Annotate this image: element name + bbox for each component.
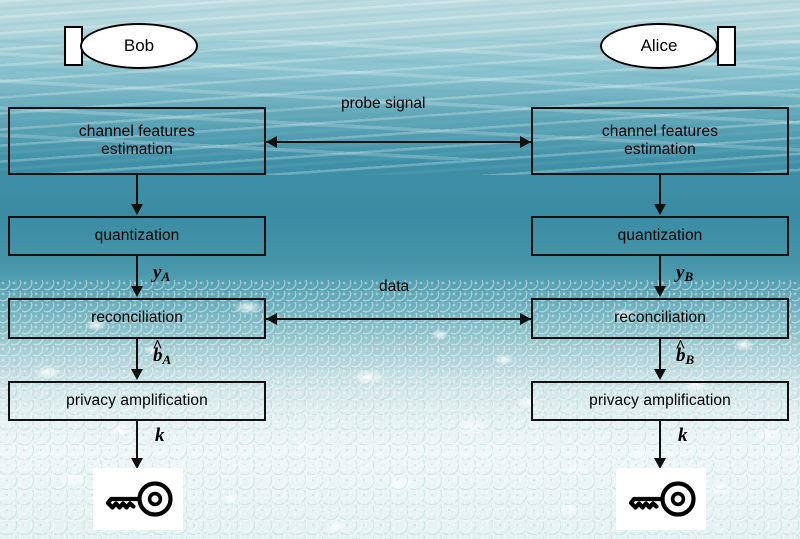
alice-key-icon-panel: [616, 468, 706, 530]
bob-symbol-y-a: yA: [153, 262, 170, 285]
alice-reconciliation-label: reconciliation: [614, 309, 706, 327]
bob-reconciliation-box[interactable]: reconciliation: [8, 298, 266, 339]
bob-symbol-k: k: [155, 425, 165, 447]
probe-signal-line: [266, 141, 531, 143]
figure-canvas: Bob Alice channel features estimation qu…: [0, 0, 800, 539]
alice-privacy-amplification-label: privacy amplification: [589, 392, 731, 410]
bob-arrow-privacy-to-key: [136, 421, 138, 459]
alice-arrow-privacy-to-key: [659, 421, 661, 459]
alice-symbol-b-hat-b: ^bB: [676, 345, 694, 368]
bob-symbol-b-hat-a-sub: A: [163, 352, 172, 367]
probe-signal-arrowhead-left: [266, 136, 277, 148]
alice-symbol-b-hat-b-sub: B: [686, 352, 695, 367]
bob-channel-estimation-box[interactable]: channel features estimation: [8, 107, 266, 175]
alice-arrow-quantization-to-reconciliation: [659, 256, 661, 287]
party-alice-label: Alice: [641, 36, 678, 56]
party-bob[interactable]: Bob: [80, 23, 198, 69]
bob-key-icon-panel: [93, 468, 183, 530]
bob-arrow-reconciliation-to-privacy: [136, 339, 138, 370]
bob-arrow-estimation-to-quantization: [136, 175, 138, 205]
alice-channel-estimation-label: channel features estimation: [602, 123, 718, 160]
bob-privacy-amplification-label: privacy amplification: [66, 392, 208, 410]
alice-channel-estimation-box[interactable]: channel features estimation: [531, 107, 789, 175]
data-link-label: data: [379, 278, 409, 296]
bob-arrowhead-privacy: [131, 369, 143, 380]
bob-symbol-b-hat-accent: ^: [152, 336, 162, 357]
alice-arrowhead-privacy: [654, 369, 666, 380]
alice-arrow-reconciliation-to-privacy: [659, 339, 661, 370]
alice-reconciliation-box[interactable]: reconciliation: [531, 298, 789, 339]
bob-arrowhead-quantization: [131, 204, 143, 215]
bob-symbol-b-hat-a: ^bA: [153, 345, 171, 368]
data-link-arrowhead-right: [520, 313, 531, 325]
alice-transducer-icon: [717, 26, 736, 66]
alice-arrowhead-quantization: [654, 204, 666, 215]
bob-quantization-box[interactable]: quantization: [8, 216, 266, 256]
bob-privacy-amplification-box[interactable]: privacy amplification: [8, 381, 266, 421]
alice-arrow-estimation-to-quantization: [659, 175, 661, 205]
data-link-line: [266, 318, 531, 320]
bob-symbol-y-a-sub: A: [161, 269, 170, 284]
alice-symbol-k: k: [678, 425, 688, 447]
bob-channel-estimation-label: channel features estimation: [79, 123, 195, 160]
alice-privacy-amplification-box[interactable]: privacy amplification: [531, 381, 789, 421]
alice-arrowhead-reconciliation: [654, 286, 666, 297]
party-bob-label: Bob: [124, 36, 154, 56]
bob-arrowhead-reconciliation: [131, 286, 143, 297]
alice-quantization-label: quantization: [618, 227, 703, 245]
alice-symbol-b-hat-accent: ^: [675, 336, 685, 357]
bob-quantization-label: quantization: [95, 227, 180, 245]
key-icon: [102, 480, 174, 518]
party-alice[interactable]: Alice: [600, 23, 718, 69]
bob-reconciliation-label: reconciliation: [91, 309, 183, 327]
bob-arrow-quantization-to-reconciliation: [136, 256, 138, 287]
probe-signal-arrowhead-right: [520, 136, 531, 148]
probe-signal-label: probe signal: [341, 95, 425, 113]
alice-symbol-y-b: yB: [676, 262, 693, 285]
alice-quantization-box[interactable]: quantization: [531, 216, 789, 256]
key-icon: [625, 480, 697, 518]
alice-symbol-y-b-sub: B: [684, 269, 693, 284]
data-link-arrowhead-left: [266, 313, 277, 325]
